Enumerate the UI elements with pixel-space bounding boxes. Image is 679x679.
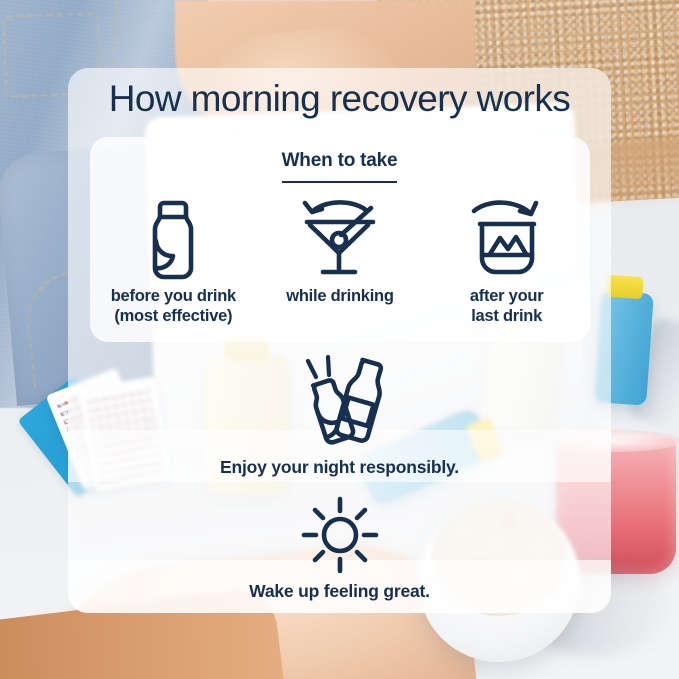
message-enjoy-night: Enjoy your night responsibly. xyxy=(0,355,679,478)
step-while-drinking: while drinking xyxy=(257,196,422,306)
message-text: Wake up feeling great. xyxy=(0,581,679,602)
step-label: before you drink (most effective) xyxy=(91,286,256,326)
message-text: Enjoy your night responsibly. xyxy=(0,457,679,478)
step-label-line1: after your xyxy=(424,286,589,306)
sun-icon xyxy=(0,495,679,575)
step-label-line1: before you drink xyxy=(91,286,256,306)
supplement-bottle-icon xyxy=(91,196,256,282)
clinking-bottles-icon xyxy=(0,355,679,451)
steps-row: before you drink (most effective) while xyxy=(90,196,590,326)
step-label: while drinking xyxy=(257,286,422,306)
step-label-line2: last drink xyxy=(424,306,589,326)
blue-recovery-bottle-cap xyxy=(606,275,643,299)
step-before-you-drink: before you drink (most effective) xyxy=(91,196,256,326)
section-heading: When to take xyxy=(282,150,398,183)
message-wake-up: Wake up feeling great. xyxy=(0,495,679,602)
step-label-line2: (most effective) xyxy=(91,306,256,326)
step-after-last-drink: after your last drink xyxy=(424,196,589,326)
step-label-line1: while drinking xyxy=(257,286,422,306)
whiskey-tumbler-icon xyxy=(424,196,589,282)
martini-glass-icon xyxy=(257,196,422,282)
section-heading-wrap: When to take xyxy=(0,150,679,183)
page-title: How morning recovery works xyxy=(0,78,679,120)
step-label: after your last drink xyxy=(424,286,589,326)
promo-graphic: How morning recovery works When to take … xyxy=(0,0,679,679)
